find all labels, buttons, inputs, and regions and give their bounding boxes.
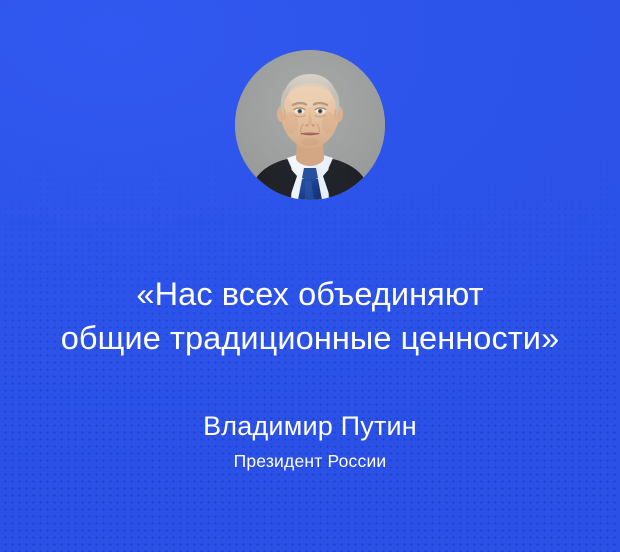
attribution-block: Владимир Путин Президент России bbox=[0, 410, 620, 472]
quote-line-2: общие традиционные ценности» bbox=[0, 316, 620, 360]
quote-line-1: «Нас всех объединяют bbox=[0, 272, 620, 316]
quote-text: «Нас всех объединяют общие традиционные … bbox=[0, 272, 620, 360]
quote-card: «Нас всех объединяют общие традиционные … bbox=[0, 0, 620, 552]
speaker-portrait bbox=[235, 50, 385, 200]
speaker-title: Президент России bbox=[0, 450, 620, 472]
portrait-photo-icon bbox=[235, 50, 385, 200]
speaker-name: Владимир Путин bbox=[0, 410, 620, 443]
